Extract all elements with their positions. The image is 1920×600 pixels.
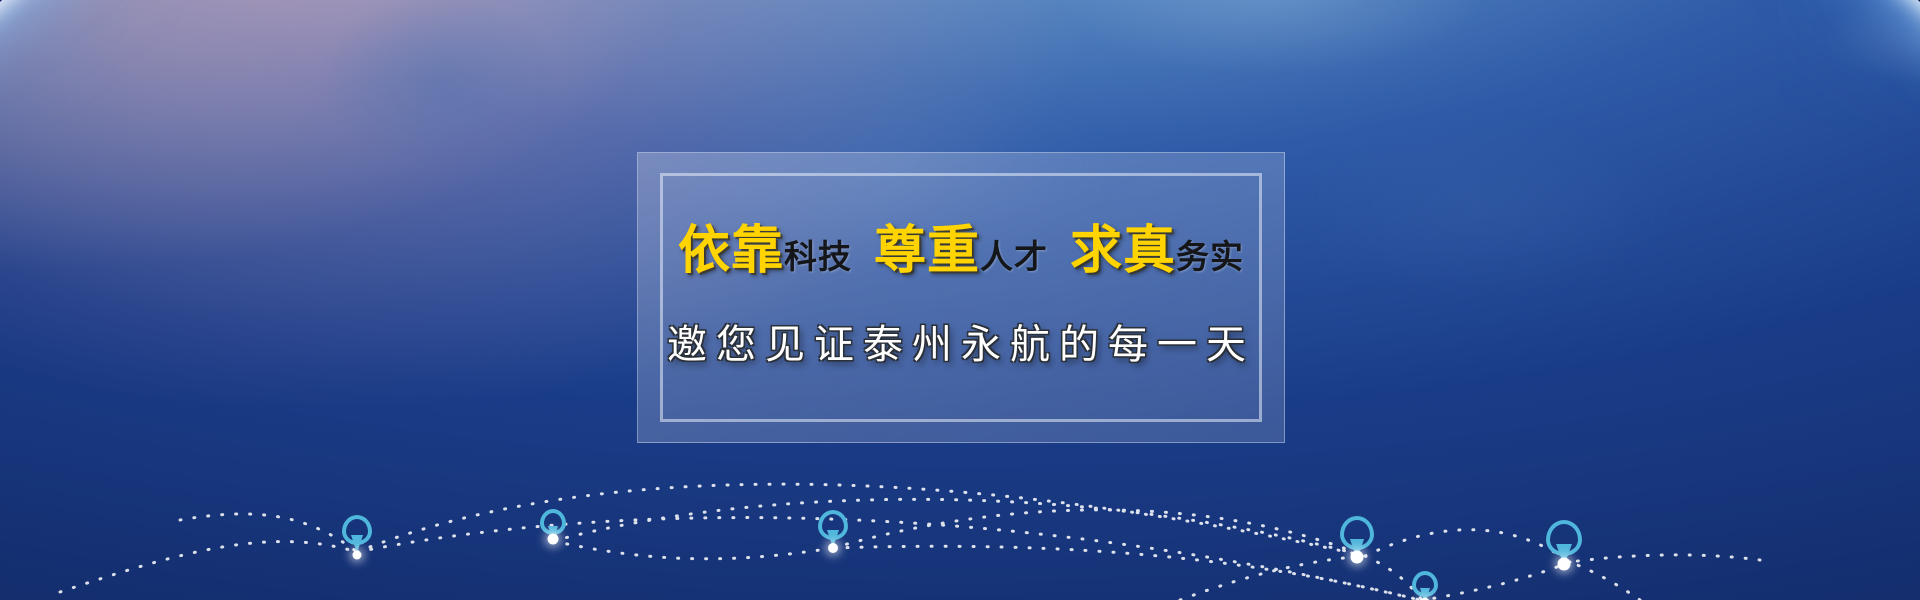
slogan-segment-highlight: 依靠 bbox=[678, 226, 784, 278]
location-glow-dot bbox=[1351, 551, 1364, 564]
slogan-segment-highlight: 尊重 bbox=[874, 226, 980, 278]
slogan-segment-highlight: 求真 bbox=[1070, 226, 1176, 278]
arc-eu-to-africa bbox=[553, 541, 833, 559]
location-glow-dot bbox=[1558, 558, 1571, 571]
marker-west-europe[interactable] bbox=[540, 509, 566, 535]
location-glow-dot bbox=[828, 543, 838, 553]
location-glow-dot bbox=[548, 534, 559, 545]
arc-south-feed bbox=[1180, 556, 1365, 600]
slogan-segment-normal: 人才 bbox=[980, 242, 1048, 275]
hero-banner: 依靠科技尊重人才求真务实 邀您见证泰州永航的每一天 bbox=[0, 0, 1920, 600]
location-pin-icon bbox=[1546, 520, 1582, 556]
marker-oceania[interactable] bbox=[1412, 571, 1438, 597]
slogan-segment-normal: 科技 bbox=[784, 242, 852, 275]
arc-ea-east-feed bbox=[1570, 555, 1760, 562]
arc-ea-to-oceania bbox=[1424, 562, 1570, 600]
slogan-panel: 依靠科技尊重人才求真务实 邀您见证泰州永航的每一天 bbox=[637, 152, 1285, 443]
location-pin-icon bbox=[540, 509, 566, 535]
arc-sa-to-ea bbox=[1365, 530, 1570, 562]
location-pin-icon bbox=[1340, 516, 1374, 550]
location-pin-icon bbox=[342, 515, 372, 545]
arc-na-to-oceania bbox=[357, 518, 1420, 600]
slogan-segment-normal: 务实 bbox=[1176, 242, 1244, 275]
marker-north-america[interactable] bbox=[342, 515, 372, 545]
slogan-line-secondary: 邀您见证泰州永航的每一天 bbox=[667, 312, 1255, 370]
arc-africa-to-oceania bbox=[833, 546, 1420, 600]
arc-ea-south-feed bbox=[1570, 562, 1640, 600]
location-glow-dot bbox=[353, 551, 362, 560]
marker-south-asia[interactable] bbox=[1340, 516, 1374, 550]
arc-west-edge bbox=[180, 514, 357, 552]
location-pin-icon bbox=[1412, 571, 1438, 597]
marker-east-asia[interactable] bbox=[1546, 520, 1582, 556]
arc-africa-to-sa bbox=[833, 510, 1365, 556]
arc-far-west bbox=[60, 542, 357, 592]
location-pin-icon bbox=[818, 510, 848, 540]
marker-west-africa[interactable] bbox=[818, 510, 848, 540]
slogan-line-primary: 依靠科技尊重人才求真务实 bbox=[678, 226, 1244, 278]
